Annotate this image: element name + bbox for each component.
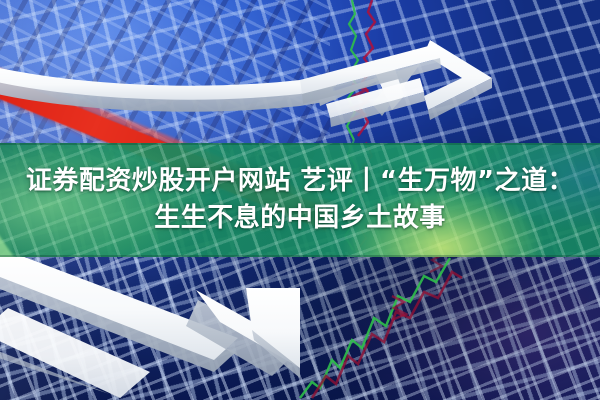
- headline-line-2: 生生不息的中国乡土故事: [154, 202, 446, 235]
- banner-image: 证券配资炒股开户网站 艺评丨“生万物”之道： 生生不息的中国乡土故事: [0, 0, 600, 400]
- headline: 证券配资炒股开户网站 艺评丨“生万物”之道： 生生不息的中国乡土故事: [0, 143, 600, 257]
- headline-line-1: 证券配资炒股开户网站 艺评丨“生万物”之道：: [26, 165, 574, 198]
